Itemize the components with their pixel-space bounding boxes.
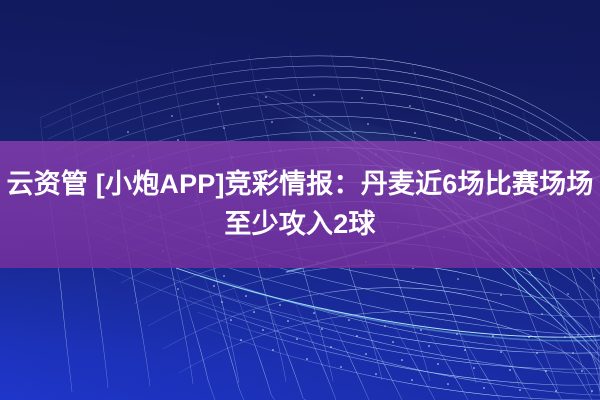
headline-line-1: 云资管 [小炮APP]竞彩情报：丹麦近6场比赛场场	[7, 167, 594, 203]
headline-line-2: 至少攻入2球	[224, 207, 375, 243]
article-banner: 云资管 [小炮APP]竞彩情报：丹麦近6场比赛场场 至少攻入2球	[0, 0, 600, 400]
headline-block: 云资管 [小炮APP]竞彩情报：丹麦近6场比赛场场 至少攻入2球	[0, 141, 600, 268]
